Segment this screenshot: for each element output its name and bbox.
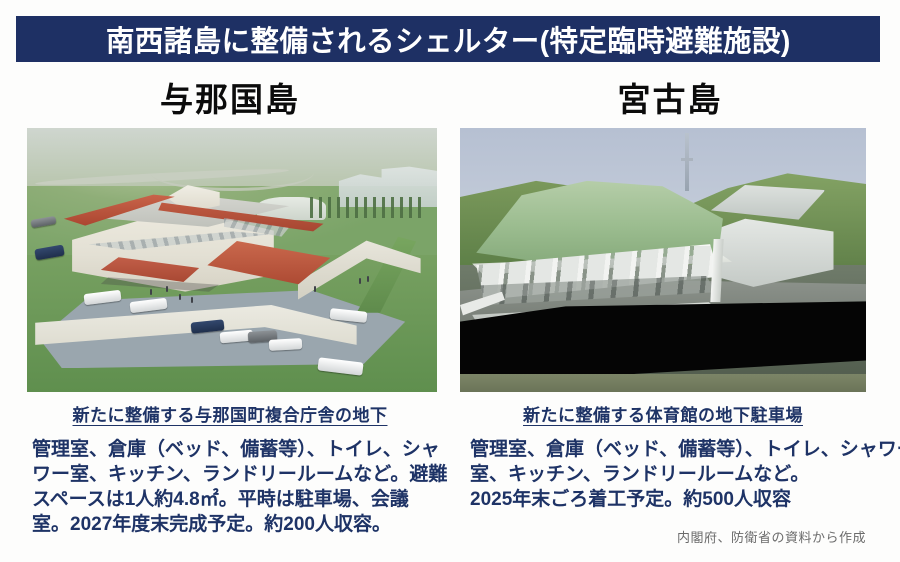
- page-title: 南西諸島に整備されるシェルター(特定臨時避難施設): [106, 18, 791, 60]
- antenna-tower: [685, 133, 689, 191]
- miyako-gymnasium-rendering-image: [460, 128, 866, 392]
- tree-row: [310, 197, 421, 218]
- yonaguni-building-rendering-image: [27, 128, 437, 392]
- description-line: 管理室、倉庫（ベッド、備蓄等）、トイレ、シャ: [32, 437, 436, 462]
- title-banner: 南西諸島に整備されるシェルター(特定臨時避難施設): [16, 16, 880, 62]
- pedestrian-figure: [359, 278, 361, 284]
- pedestrian-figure: [367, 276, 369, 282]
- caption-yonaguni: 新たに整備する与那国町複合庁舎の地下: [20, 400, 440, 426]
- description-line: 室。2027年度末完成予定。約200人収容。: [32, 512, 436, 537]
- miyako-scene: [460, 128, 866, 392]
- foreground-grass: [460, 374, 866, 392]
- source-note: 内閣府、防衛省の資料から作成: [677, 527, 866, 546]
- description-line: 2025年末ごろ着工予定。約500人収容: [470, 487, 876, 512]
- description-yonaguni: 管理室、倉庫（ベッド、備蓄等）、トイレ、シャ ワー室、キッチン、ランドリールーム…: [32, 437, 436, 537]
- description-line: ワー室、キッチン、ランドリールームなど。避難: [32, 462, 436, 487]
- infographic-page: 南西諸島に整備されるシェルター(特定臨時避難施設) 与那国島 宮古島: [0, 0, 900, 562]
- description-line: 室、キッチン、ランドリールームなど。: [470, 462, 876, 487]
- caption-miyako: 新たに整備する体育館の地下駐車場: [460, 400, 866, 426]
- description-line: 管理室、倉庫（ベッド、備蓄等）、トイレ、シャワー: [470, 437, 876, 462]
- heading-miyako: 宮古島: [460, 76, 880, 118]
- description-line: スペースは1人約4.8㎡。平時は駐車場、会議: [32, 487, 436, 512]
- parked-car: [269, 338, 302, 350]
- pedestrian-figure: [314, 286, 316, 292]
- heading-yonaguni: 与那国島: [20, 76, 440, 118]
- yonaguni-scene: [27, 128, 437, 392]
- pedestrian-figure: [179, 294, 181, 300]
- description-miyako: 管理室、倉庫（ベッド、備蓄等）、トイレ、シャワー 室、キッチン、ランドリールーム…: [470, 437, 876, 512]
- pedestrian-figure: [191, 297, 193, 303]
- pedestrian-figure: [150, 289, 152, 295]
